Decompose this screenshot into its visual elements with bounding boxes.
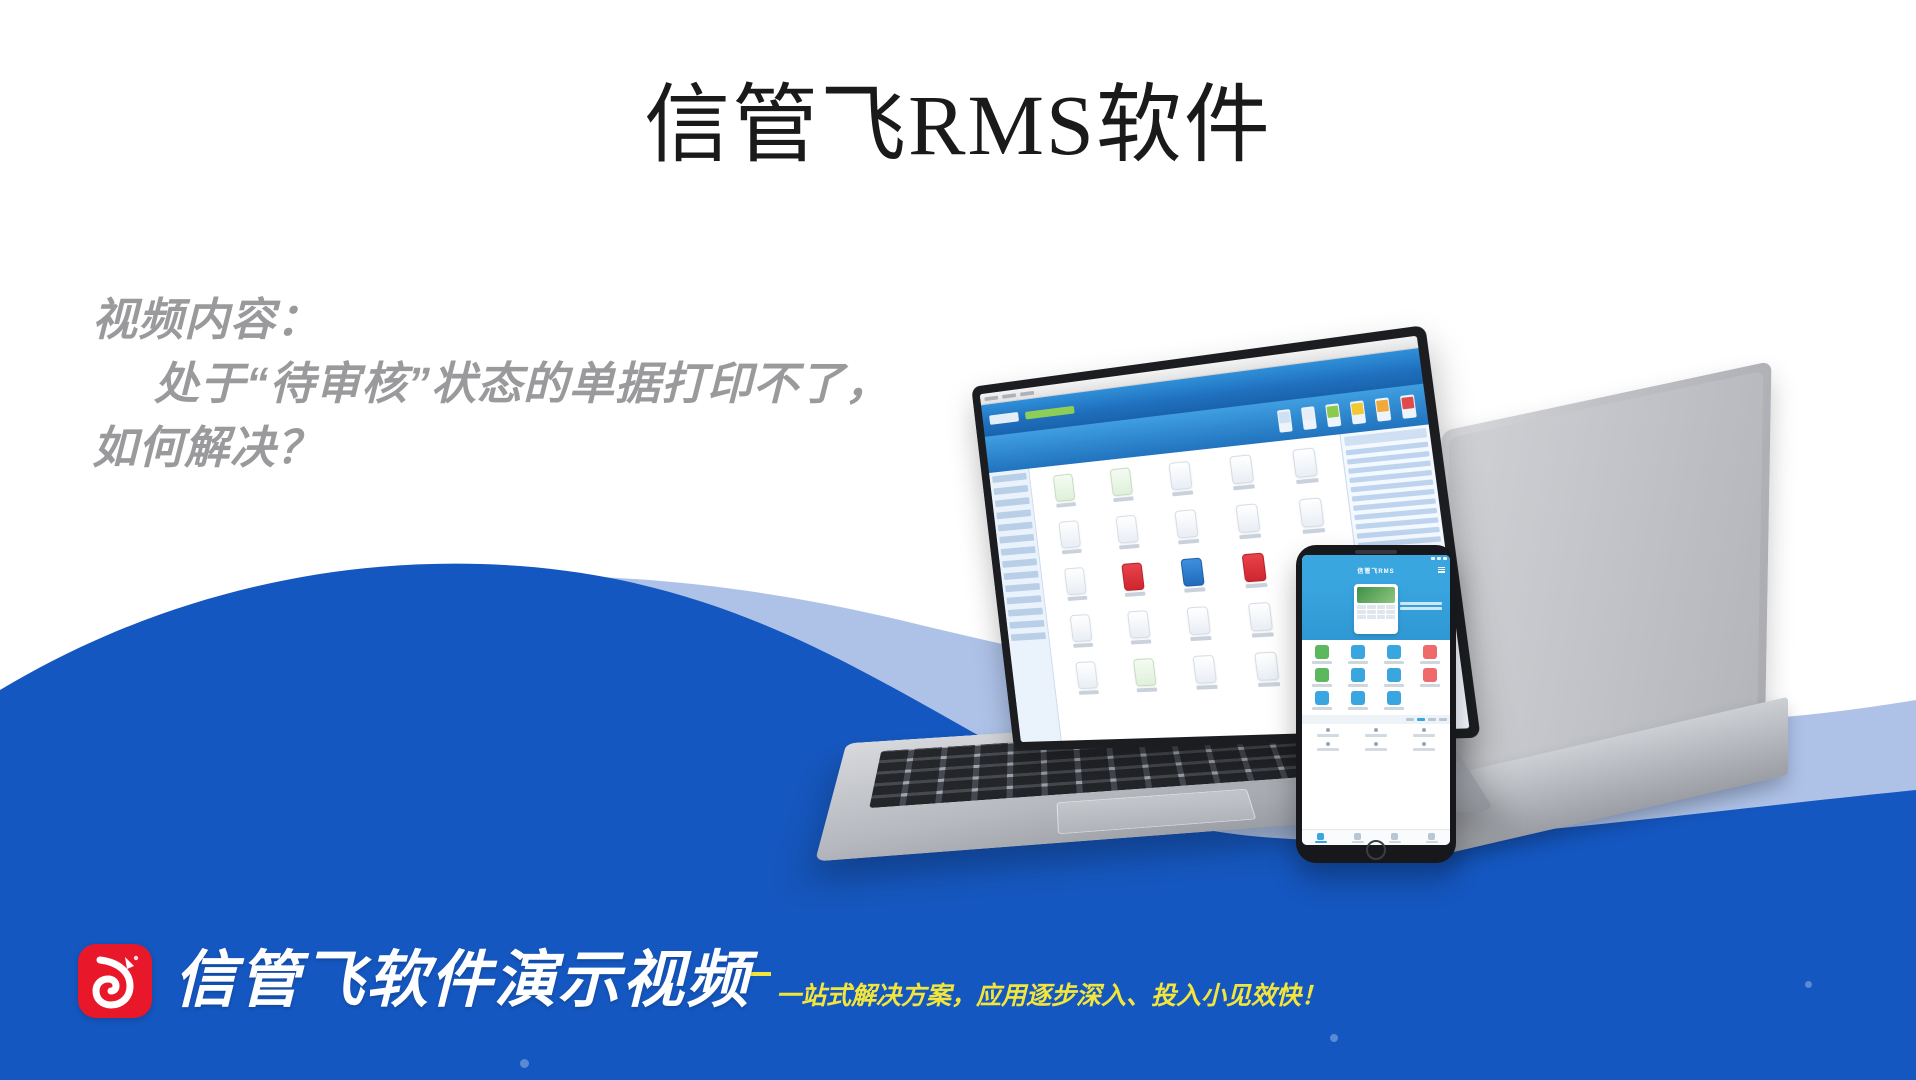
xinguanfei-logo-icon <box>989 412 1019 425</box>
menu-item-edit-icon <box>1002 393 1016 399</box>
phone-app-title: 信管飞RMS <box>1357 566 1394 575</box>
brand-name-text: 信管飞软件演示视频 <box>174 950 750 1012</box>
sidebar-item[interactable] <box>1002 558 1037 567</box>
app-icon[interactable] <box>1279 495 1347 547</box>
device-mockup-group: 信管飞RMS <box>880 385 1916 945</box>
sidebar-item[interactable] <box>995 497 1030 507</box>
app-icon[interactable] <box>1035 472 1094 521</box>
blue-doc-icon[interactable] <box>1341 668 1375 687</box>
sidebar-item[interactable] <box>1008 608 1043 617</box>
hero-keypad <box>1357 605 1395 619</box>
stat-item[interactable] <box>1353 728 1399 737</box>
laptop-trackpad <box>1057 789 1257 834</box>
sidebar-item[interactable] <box>1005 583 1040 592</box>
blue-doc-icon[interactable] <box>1305 691 1339 710</box>
phone-screen: 信管飞RMS <box>1302 555 1450 845</box>
app-icon[interactable] <box>1168 605 1232 654</box>
profile-tab[interactable] <box>1413 830 1450 845</box>
smartphone-mobile-app: 信管飞RMS <box>1296 545 1456 863</box>
app-icon[interactable] <box>1229 601 1295 651</box>
app-icon-red[interactable] <box>1223 551 1289 602</box>
filter-option[interactable] <box>1406 718 1414 721</box>
filter-option-active[interactable] <box>1417 718 1425 721</box>
app-icon[interactable] <box>1156 507 1219 557</box>
sidebar-item[interactable] <box>1001 546 1036 556</box>
sidebar-item[interactable] <box>1006 595 1041 604</box>
sidebar-item[interactable] <box>1004 571 1039 580</box>
flame-bird-logo-icon <box>78 944 152 1018</box>
signal-icon <box>1431 557 1435 560</box>
exit-icon[interactable] <box>1400 394 1417 419</box>
sidebar-item[interactable] <box>993 485 1028 495</box>
menu-item-file-icon <box>984 395 998 400</box>
battery-icon <box>1443 557 1447 560</box>
phone-stats-grid <box>1302 724 1450 755</box>
new-doc-icon[interactable] <box>1277 409 1293 433</box>
blue-doc-icon[interactable] <box>1377 645 1411 664</box>
brand-lockup: 信管飞软件演示视频 一站式解决方案，应用逐步深入、投入小见效快！ <box>78 944 1326 1018</box>
sidebar-item[interactable] <box>999 534 1034 544</box>
app-brand-accent <box>1025 406 1075 420</box>
app-icon[interactable] <box>1041 519 1100 568</box>
presentation-slide: 信管飞RMS软件 视频内容： 处于“待审核”状态的单据打印不了， 如何解决？ <box>0 0 1916 1080</box>
app-icon[interactable] <box>1098 513 1159 562</box>
stat-item[interactable] <box>1305 742 1351 751</box>
open-doc-icon[interactable] <box>1301 406 1317 430</box>
app-icon-blue[interactable] <box>1162 556 1226 606</box>
app-icon-red[interactable] <box>1103 561 1165 610</box>
filter-option[interactable] <box>1428 718 1436 721</box>
app-icon[interactable] <box>1174 654 1238 703</box>
app-icon[interactable] <box>1150 459 1213 510</box>
sidebar-item[interactable] <box>1009 620 1044 629</box>
stat-item[interactable] <box>1401 742 1447 751</box>
green-doc-icon[interactable] <box>1305 645 1339 664</box>
decor-bubble <box>1330 1034 1338 1042</box>
hero-text-lines <box>1400 602 1442 612</box>
blue-doc-icon[interactable] <box>1341 645 1375 664</box>
bottom-brand-bar: 信管飞软件演示视频 一站式解决方案，应用逐步深入、投入小见效快！ <box>0 920 1916 1080</box>
print-icon[interactable] <box>1350 400 1366 424</box>
home-tab[interactable] <box>1302 830 1339 845</box>
phone-section-filter[interactable] <box>1302 715 1450 724</box>
hamburger-menu-icon[interactable] <box>1438 567 1445 573</box>
app-icon[interactable] <box>1052 613 1112 660</box>
filter-option[interactable] <box>1439 718 1447 721</box>
green-doc-icon[interactable] <box>1305 668 1339 687</box>
app-icon[interactable] <box>1273 445 1341 498</box>
brand-tagline-text: 一站式解决方案，应用逐步深入、投入小见效快！ <box>776 976 1326 1018</box>
phone-home-button[interactable] <box>1366 840 1386 860</box>
blue-grid-icon[interactable] <box>1377 691 1411 710</box>
body-line-label: 视频内容： <box>92 288 1152 352</box>
wifi-icon <box>1437 557 1441 560</box>
app-icon[interactable] <box>1235 651 1301 700</box>
slide-title: 信管飞RMS软件 <box>0 78 1916 173</box>
sidebar-item[interactable] <box>996 509 1031 519</box>
sidebar-item[interactable] <box>992 473 1027 483</box>
phone-earpiece <box>1355 550 1397 554</box>
save-icon[interactable] <box>1325 403 1341 427</box>
phone-status-bar <box>1302 555 1450 562</box>
blue-doc-icon[interactable] <box>1377 668 1411 687</box>
menu-item-help-icon <box>1020 390 1034 396</box>
settings-icon[interactable] <box>1375 397 1392 421</box>
hero-image <box>1357 587 1395 603</box>
stat-item[interactable] <box>1353 742 1399 751</box>
stat-item[interactable] <box>1401 728 1447 737</box>
app-icon[interactable] <box>1217 501 1283 552</box>
phone-hero-banner <box>1302 578 1450 640</box>
app-icon[interactable] <box>1109 609 1171 657</box>
decor-bubble <box>1805 981 1812 988</box>
sidebar-item[interactable] <box>1011 632 1046 641</box>
app-icon[interactable] <box>1047 566 1107 614</box>
phone-function-grid <box>1302 640 1450 715</box>
phone-app-header: 信管飞RMS <box>1302 562 1450 578</box>
decor-bubble <box>520 1059 529 1068</box>
red-doc-icon[interactable] <box>1413 645 1447 664</box>
blue-doc-icon[interactable] <box>1341 691 1375 710</box>
sidebar-item[interactable] <box>998 522 1033 532</box>
red-doc-icon[interactable] <box>1413 668 1447 687</box>
stat-item[interactable] <box>1305 728 1351 737</box>
app-icon[interactable] <box>1092 465 1153 515</box>
app-icon[interactable] <box>1211 452 1276 504</box>
hero-product-card <box>1354 584 1398 634</box>
app-icon[interactable] <box>1115 657 1177 705</box>
app-icon[interactable] <box>1058 660 1118 707</box>
